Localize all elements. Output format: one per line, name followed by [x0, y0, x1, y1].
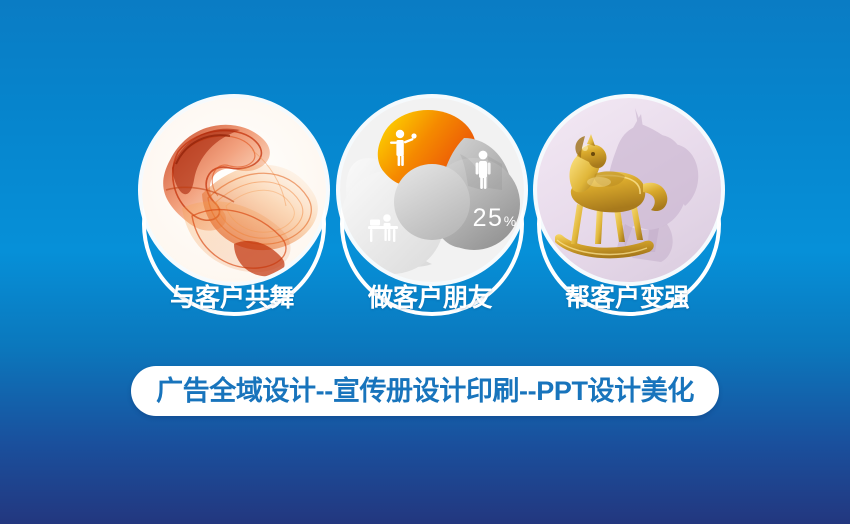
feature-circle-2-label: 做客户朋友 [330, 286, 530, 311]
feature-circle-1[interactable]: 与客户共舞 [132, 90, 332, 340]
infographic-blobs-image: 25 % [340, 98, 524, 282]
golden-rocking-horse-image [537, 98, 721, 282]
stat-value-text: 25 [473, 204, 504, 232]
feature-circle-3-label: 帮客户变强 [527, 286, 727, 311]
orange-smoke-swirl-image [142, 98, 326, 282]
feature-label-tail: 共舞 [245, 284, 294, 312]
feature-label-head: 与客户 [170, 284, 245, 312]
feature-label-tail: 朋友 [443, 284, 492, 312]
promo-poster: 与客户共舞 [0, 0, 850, 524]
feature-circle-3[interactable]: 帮客户变强 [527, 90, 727, 340]
tagline-banner-text: 广告全域设计--宣传册设计印刷--PPT设计美化 [156, 378, 694, 405]
feature-label-head: 做客户 [368, 284, 443, 312]
circle-feature-group: 与客户共舞 [0, 0, 850, 360]
stat-percent-sign: % [504, 213, 516, 229]
feature-circle-2[interactable]: 25 % 做客户朋友 [330, 90, 530, 340]
feature-label-tail: 变强 [640, 284, 689, 312]
tagline-banner[interactable]: 广告全域设计--宣传册设计印刷--PPT设计美化 [131, 366, 719, 416]
feature-label-head: 帮客户 [565, 284, 640, 312]
feature-circle-1-label: 与客户共舞 [132, 286, 332, 311]
